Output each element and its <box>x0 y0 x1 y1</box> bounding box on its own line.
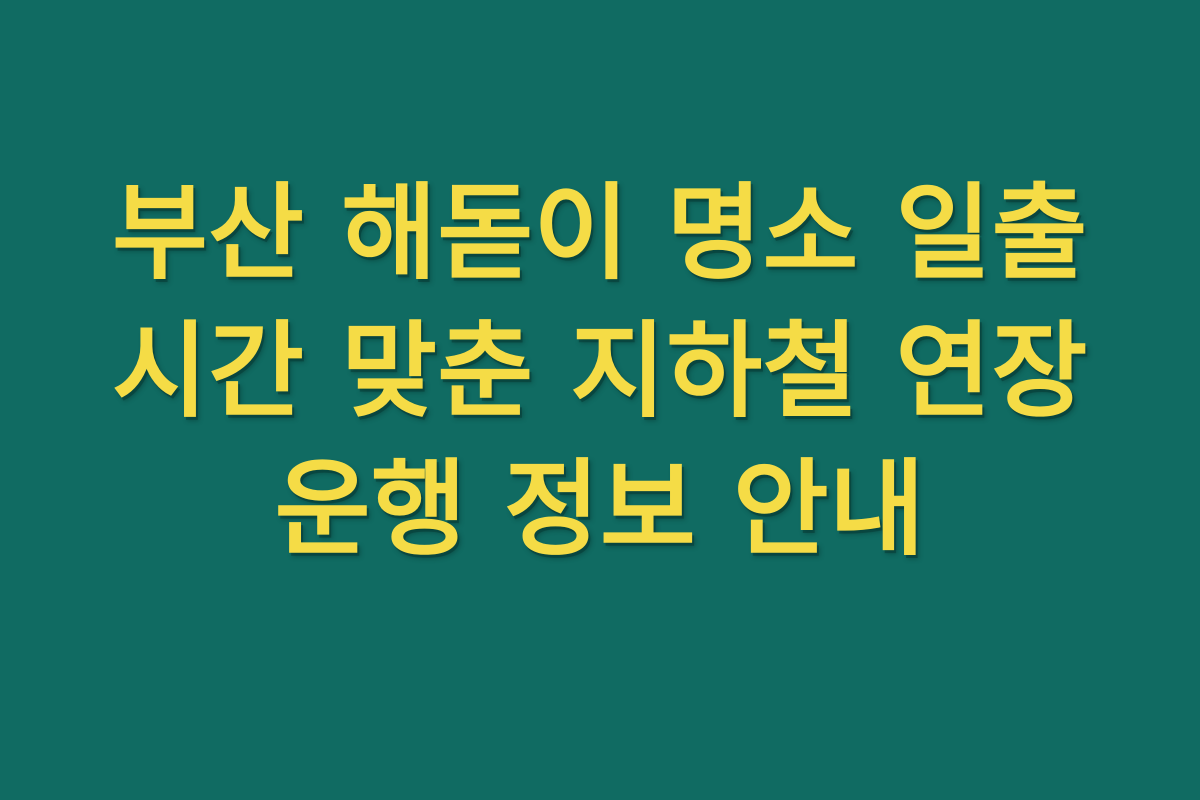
poster-card: 부산 해돋이 명소 일출 시간 맞춘 지하철 연장 운행 정보 안내 <box>0 0 1200 800</box>
headline-line-3: 운행 정보 안내 <box>100 440 1100 578</box>
headline-line-1: 부산 해돋이 명소 일출 <box>100 164 1100 302</box>
headline-line-2: 시간 맞춘 지하철 연장 <box>100 302 1100 440</box>
headline-block: 부산 해돋이 명소 일출 시간 맞춘 지하철 연장 운행 정보 안내 <box>100 164 1100 578</box>
